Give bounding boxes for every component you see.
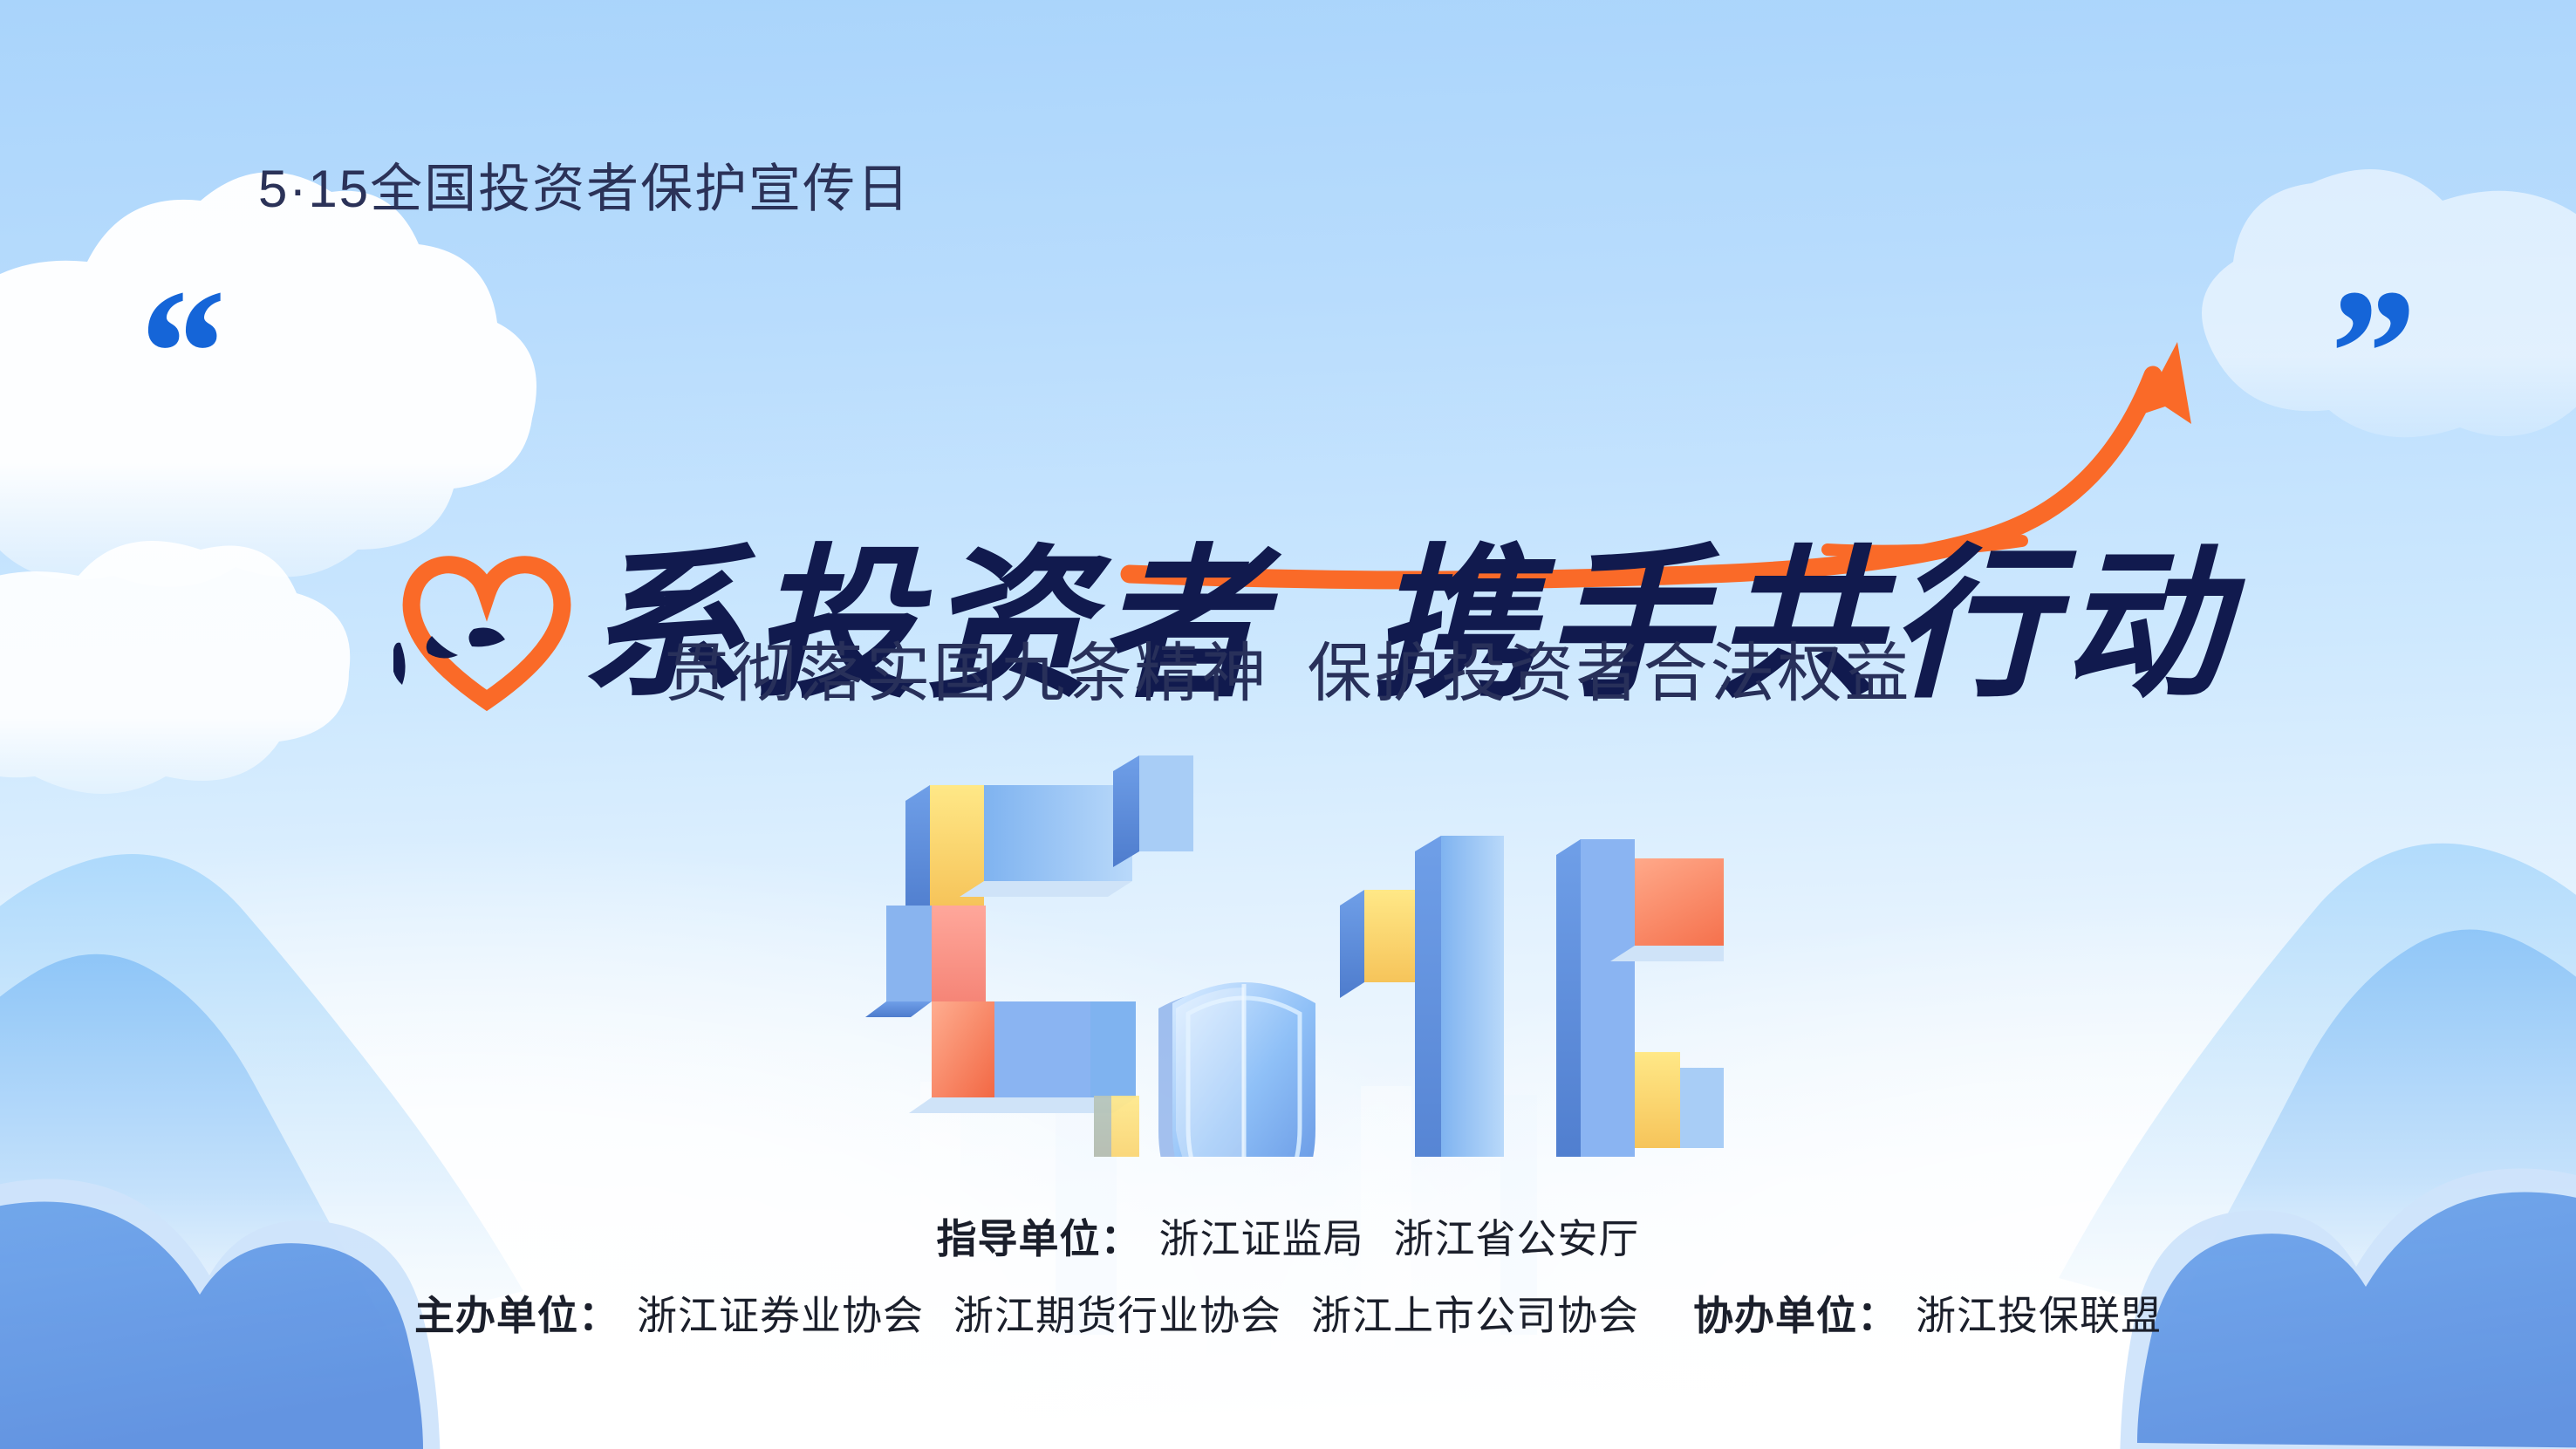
mountain-far-right: [2059, 844, 2576, 1449]
credit-host-org-3: 浙江上市公司协会: [1311, 1293, 1639, 1338]
credit-cohost-label: 协办单位：: [1693, 1293, 1898, 1338]
banner-root: 5·15全国投资者保护宣传日 “ ” 系投资者 携手共行动: [0, 0, 2576, 1449]
logo-digit-1: [1340, 836, 1565, 1157]
logo-digit-5-left: [865, 755, 1193, 1157]
credit-host-line: 主办单位：浙江证券业协会浙江期货行业协会浙江上市公司协会协办单位：浙江投保联盟: [0, 1284, 2576, 1342]
credit-guidance-org-1: 浙江证监局: [1159, 1216, 1364, 1261]
credit-host-label: 主办单位：: [414, 1293, 619, 1338]
credit-host-org-1: 浙江证券业协会: [637, 1293, 924, 1338]
subtitle-part-2: 保护投资者合法权益: [1308, 637, 1912, 709]
mountain-mid-left: [0, 954, 427, 1449]
subtitle-part-1: 贯彻落实国九条精神: [665, 637, 1269, 709]
credit-guidance-org-2: 浙江省公安厅: [1394, 1216, 1640, 1261]
mountain-mid-right: [2135, 929, 2576, 1449]
headline-group: 系投资者 携手共行动: [0, 262, 2576, 602]
credit-cohost-org-1: 浙江投保联盟: [1916, 1293, 2162, 1338]
credit-guidance-line: 指导单位：浙江证监局浙江省公安厅: [0, 1207, 2576, 1265]
event-date-label: 5·15全国投资者保护宣传日: [258, 147, 911, 222]
logo-515: [851, 721, 1724, 1157]
subtitle-line: 贯彻落实国九条精神保护投资者合法权益: [0, 621, 2576, 714]
mountain-far-left: [0, 854, 523, 1449]
credit-guidance-label: 指导单位：: [937, 1216, 1142, 1261]
credit-host-org-2: 浙江期货行业协会: [953, 1293, 1281, 1338]
shield-emblem-icon: [1158, 982, 1315, 1157]
logo-digit-5-right: [1546, 839, 1724, 1157]
